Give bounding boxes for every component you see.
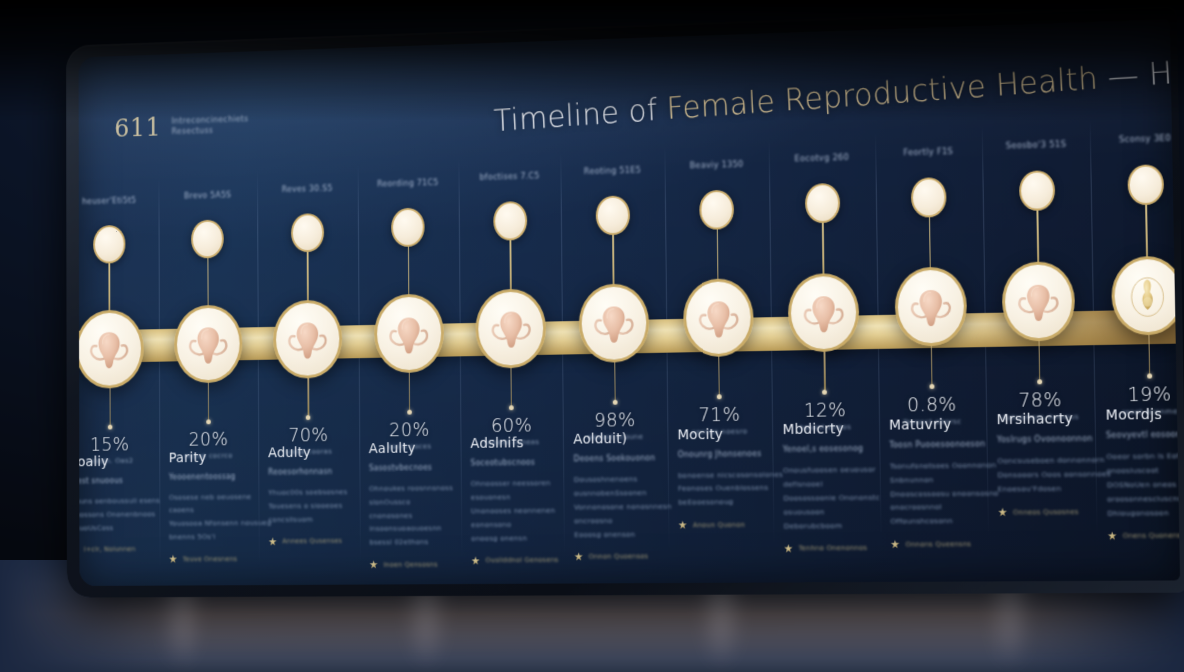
detail-column[interactable]: Mrsihacrty Yoslrugs Ovoonoonnon Ooncsuse…: [997, 411, 1116, 517]
column-detail-line: bsessl 02ethons: [369, 535, 479, 549]
milestone-value-dot: [822, 389, 827, 394]
ovum-illustration: [1123, 271, 1172, 320]
detail-column[interactable]: Poaliy lnest snuoous Uuuns oenboussuli e…: [79, 454, 177, 555]
column-detail-line: Doosossoonie Onononstc osuousoon: [783, 491, 898, 520]
column-badge: Onneos Qusosnes: [998, 507, 1116, 517]
column-heading: Poaliy: [79, 454, 177, 471]
column-detail-line: cnonosones insoonsuoaouoesnn: [369, 508, 479, 536]
milestone-marker-dot[interactable]: [191, 219, 224, 258]
column-detail-line: Dnooscossoosu onoonsosno onocroosnnol: [890, 486, 1007, 515]
column-subtitle: Toosn Puooesoonoeson: [889, 439, 1005, 449]
milestone-value-dot: [929, 384, 934, 389]
column-detail-line: Yhuoc00s soebsosnes: [268, 485, 377, 500]
milestone-value-dot: [407, 410, 412, 415]
column-detail-line: Doossons Ononenbnoos: [79, 507, 177, 521]
milestone-icon-node[interactable]: [374, 294, 444, 374]
column-badge: Onens Quonens: [1108, 531, 1180, 541]
brand-text: Intreconcinechiets Resectuss: [171, 115, 248, 138]
milestone-value-dot: [509, 405, 514, 410]
panel-screen: 611 Intreconcinechiets Resectuss Timelin…: [79, 19, 1181, 586]
column-heading: Adulty: [268, 444, 377, 461]
star-icon: [369, 560, 377, 569]
column-badge-label: Teuve Onesnens: [183, 555, 238, 563]
milestone-stem-lower: [931, 346, 933, 384]
star-icon: [678, 521, 687, 530]
column-heading: Mocity: [677, 426, 791, 443]
column-detail-line: DOSNoUen oneos oroosonnescluscns: [1107, 477, 1180, 506]
milestone-value-dot: [107, 425, 112, 430]
milestone-value-dot: [612, 400, 617, 405]
star-icon: [784, 544, 793, 553]
column-badge-label: Tenhno Onenonnos: [799, 544, 868, 552]
column-detail-line: bnenns 5Os'l: [169, 530, 277, 544]
column-subtitle: Yeooenentoossag: [169, 471, 276, 481]
milestone-percent: 19%: [1074, 382, 1180, 407]
milestone-stem-lower: [409, 373, 411, 410]
column-detail-line: Ohnoosser neessoren esouonesn: [471, 476, 582, 504]
column-detail-line: Ooncsuseboen donnonnorn: [997, 453, 1115, 468]
column-heading: Mrsihacrty: [997, 411, 1115, 429]
detail-column[interactable]: Mbdicrty Yenoel,s eosesonog Onousfuoosen…: [783, 421, 900, 553]
detail-column[interactable]: Aalulty Sasostvbecnoes Ohnoukes roosnnsn…: [369, 440, 480, 569]
column-detail-line: Ososese neb oeuosene caoens: [169, 490, 277, 518]
column-detail-line: Youosooa Nfonsenn nousueg: [169, 517, 277, 531]
detail-column[interactable]: Mocity Onounrg Jhonsenoes bonoense nicsc…: [677, 426, 792, 530]
column-detail-line: Offounshcosonn: [890, 514, 1007, 529]
milestone-icon-node[interactable]: [476, 289, 546, 369]
milestone-marker-dot[interactable]: [93, 225, 125, 264]
column-subtitle: Deoens Soekouonon: [573, 453, 685, 463]
column-badge-label: Onens Quonens: [1123, 531, 1180, 540]
milestone-value-dot: [717, 395, 722, 400]
column-badge: Tenhno Onenonnos: [784, 543, 899, 553]
column-heading: Aolduit): [573, 430, 685, 447]
column-badge: lnoen Qensosns: [369, 560, 479, 569]
column-detail-line: Tsonufonotsoes Ooonnonon Snbnunnon: [890, 458, 1007, 487]
milestone-marker-dot[interactable]: [700, 189, 735, 229]
star-icon: [891, 540, 900, 549]
column-badge-label: lnoen Qensosns: [383, 560, 437, 568]
column-detail-line: beEooesonoug: [678, 495, 792, 510]
uterus-illustration: [696, 295, 740, 341]
column-detail-line: Deborubcboom: [784, 518, 899, 533]
column-detail-line: Ohnoukes roosnnsnoss slonOussco: [369, 481, 479, 509]
milestone-marker-dot[interactable]: [291, 213, 324, 252]
column-badge-label: Onnons Queensns: [905, 540, 971, 549]
brand-logo: 611 Intreconcinechiets Resectuss: [114, 111, 248, 144]
milestone-stem-lower: [109, 388, 110, 424]
column-detail-line: Feonoses Ouenblossens: [678, 481, 792, 496]
milestone-value-dot: [1037, 379, 1042, 384]
milestone-marker-dot[interactable]: [805, 183, 840, 223]
column-heading: Mocrdjs: [1106, 406, 1181, 424]
column-badge: Onnons Queensns: [891, 539, 1008, 549]
column-detail-line: Enoesou'Fdosen: [998, 481, 1116, 496]
column-detail-line: bonoense nicscosonsolones: [678, 467, 792, 482]
milestone-marker-dot[interactable]: [1127, 164, 1164, 205]
column-detail-line: Ooeor sorbn ls Eofonoesnr onoosluscoot: [1106, 449, 1180, 479]
milestone-marker-dot[interactable]: [391, 207, 425, 247]
uterus-illustration: [489, 306, 533, 352]
star-icon: [1108, 531, 1117, 540]
scene-stage: 611 Intreconcinechiets Resectuss Timelin…: [0, 0, 1184, 672]
column-subtitle: Soceotubscnoos: [471, 458, 582, 468]
milestone-marker-dot[interactable]: [596, 195, 630, 235]
column-badge: Teuve Onesnens: [169, 554, 277, 563]
column-badge: l+clr, Nolunnen: [79, 545, 177, 554]
milestone-value-dot: [206, 420, 211, 425]
milestone-marker-dot[interactable]: [493, 201, 527, 241]
column-badge: Ousllddnol Genosens: [471, 556, 582, 566]
page-title: Timeline of Female Reproductive Health —…: [493, 49, 1180, 139]
uterus-illustration: [88, 326, 130, 372]
column-detail-line: Donsooors Ooos oonsonnoes: [997, 467, 1115, 482]
milestone-stem-lower: [614, 362, 616, 399]
uterus-illustration: [592, 300, 636, 346]
detail-column[interactable]: Parity Yeooenentoossag Ososese neb oeuos…: [169, 449, 277, 563]
display-panel: 611 Intreconcinechiets Resectuss Timelin…: [66, 6, 1184, 598]
milestone-icon-node[interactable]: [273, 299, 342, 379]
column-heading: Adslnifs: [470, 435, 581, 452]
uterus-illustration: [387, 311, 430, 357]
column-detail-line: Vonnonosone nonosnnesn oncroosno: [574, 499, 687, 527]
column-subtitle: Sasostvbecnoes: [369, 462, 479, 472]
column-detail-line: concsllsuom: [268, 512, 377, 526]
column-badge-label: l+clr, Nolunnen: [84, 545, 136, 553]
milestone-value-dot: [306, 415, 311, 420]
column-detail-line: Touesens o siooeoes: [268, 499, 377, 514]
milestone-stem-lower: [208, 383, 209, 420]
column-heading: Matuvriy: [889, 416, 1005, 434]
milestone-marker-dot[interactable]: [1019, 171, 1055, 212]
column-subtitle: Reoesorhonnasn: [268, 467, 377, 477]
milestone-stem-lower: [511, 368, 513, 405]
column-badge: Annees Qusenses: [269, 537, 378, 547]
title-highlight: Female Reproductive Health: [666, 61, 1099, 127]
column-detail-line: Uuuns oenboussuli esens: [79, 494, 177, 508]
uterus-illustration: [908, 284, 953, 330]
title-tail: — Health: [1097, 49, 1180, 96]
column-detail-line: Dousoshnenoens ousnnobenSsoonen: [574, 472, 687, 501]
column-subtitle: Seovyevtl eosoonsosoc: [1106, 429, 1180, 440]
milestone-icon-node[interactable]: [174, 304, 243, 384]
column-badge: Anoun Quonon: [678, 520, 792, 530]
brand-line-2: Resectuss: [171, 125, 248, 137]
milestone-icon-node[interactable]: [1002, 261, 1075, 341]
detail-column[interactable]: Mocrdjs Seovyevtl eosoonsosoc Ooeor sorb…: [1106, 406, 1181, 541]
milestone-stem-lower: [1039, 341, 1041, 379]
column-badge-label: Annees Qusenses: [282, 537, 342, 545]
milestone-top-label: Sconsy 3E0: [1080, 133, 1180, 147]
detail-column[interactable]: Adulty Reoesorhonnasn Yhuoc00s soebsosne…: [268, 444, 377, 546]
star-icon: [269, 537, 277, 546]
detail-column[interactable]: Adslnifs Soceotubscnoos Ohnoosser neesso…: [470, 435, 582, 565]
title-plain: Timeline of: [493, 92, 668, 139]
column-badge-label: Ousllddnol Genosens: [485, 556, 558, 564]
column-subtitle: lnest snuoous: [79, 476, 177, 486]
column-badge: Onnon Quoensos: [574, 552, 687, 562]
star-icon: [574, 552, 583, 561]
milestone-marker-dot[interactable]: [911, 177, 947, 218]
milestone-stem-lower: [824, 352, 826, 390]
star-icon: [169, 555, 177, 564]
milestone-value-dot: [1147, 373, 1152, 378]
column-badge-label: Anoun Quonon: [693, 521, 745, 529]
uterus-illustration: [187, 321, 230, 367]
uterus-illustration: [801, 289, 846, 335]
detail-column[interactable]: Matuvriy Toosn Puooesoonoeson Tsonufonot…: [889, 416, 1007, 549]
uterus-illustration: [286, 316, 329, 362]
milestone-stem-lower: [718, 357, 720, 395]
column-heading: Aalulty: [369, 440, 479, 457]
column-detail-line: Dhiougonosoon: [1107, 505, 1180, 520]
milestone-icon-node[interactable]: [79, 309, 144, 389]
star-icon: [998, 508, 1007, 517]
column-detail-line: Unonooses neonnenen eononsono: [471, 504, 582, 532]
column-detail-line: onoosg onensn: [471, 531, 582, 545]
column-badge-label: Onnon Quoensos: [589, 552, 649, 560]
detail-column[interactable]: Aolduit) Deoens Soekouonon Dousoshnenoen…: [573, 430, 687, 561]
column-subtitle: Yenoel,s eosesonog: [783, 444, 898, 454]
column-heading: Mbdicrty: [783, 421, 898, 438]
column-detail-line: Onousfuoosen oeuousor deflsnooel: [783, 463, 898, 492]
star-icon: [471, 556, 480, 565]
column-subtitle: Onounrg Jhonsenoes: [678, 448, 792, 458]
column-badge-label: Onneos Qusosnes: [1013, 508, 1079, 517]
milestone-stem-lower: [308, 378, 309, 415]
column-detail-line: bhuoUsCoss: [79, 521, 177, 535]
brand-mark: 611: [114, 113, 161, 143]
column-subtitle: Yoslrugs Ovoonoonnon: [997, 434, 1115, 445]
column-heading: Parity: [169, 449, 276, 466]
column-detail-line: Eooosg onenson: [574, 527, 687, 542]
uterus-illustration: [1016, 278, 1061, 324]
